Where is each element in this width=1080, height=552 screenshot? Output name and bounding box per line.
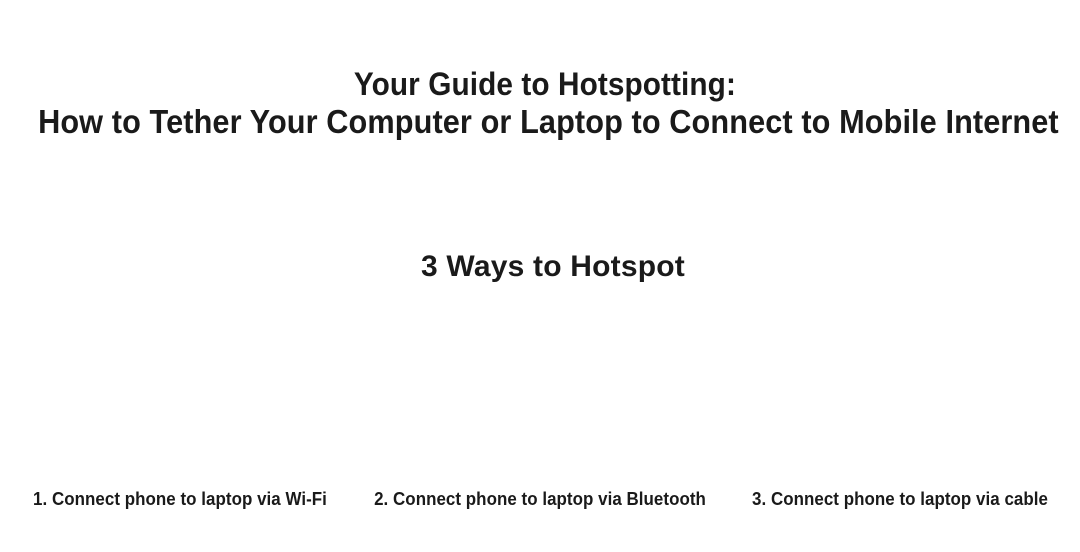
page-title-line-1: Your Guide to Hotspotting: [38, 65, 1052, 103]
step-caption-bluetooth: 2. Connect phone to laptop via Bluetooth [371, 486, 709, 514]
section-title: 3 Ways to Hotspot [0, 249, 1080, 285]
page-title: Your Guide to Hotspotting: How to Tether… [38, 65, 1052, 141]
step-illustration-bluetooth [360, 286, 720, 476]
steps-caption-row: 1. Connect phone to laptop via Wi-Fi 2. … [0, 486, 1080, 514]
step-illustration-cable [720, 286, 1080, 476]
step-illustration-wifi [0, 286, 360, 476]
infographic-page: Your Guide to Hotspotting: How to Tether… [0, 0, 1080, 552]
page-title-line-2: How to Tether Your Computer or Laptop to… [38, 103, 1052, 141]
step-caption-cable: 3. Connect phone to laptop via cable [731, 486, 1069, 514]
steps-illustration-band [0, 286, 1080, 476]
step-caption-wifi: 1. Connect phone to laptop via Wi-Fi [11, 486, 349, 514]
